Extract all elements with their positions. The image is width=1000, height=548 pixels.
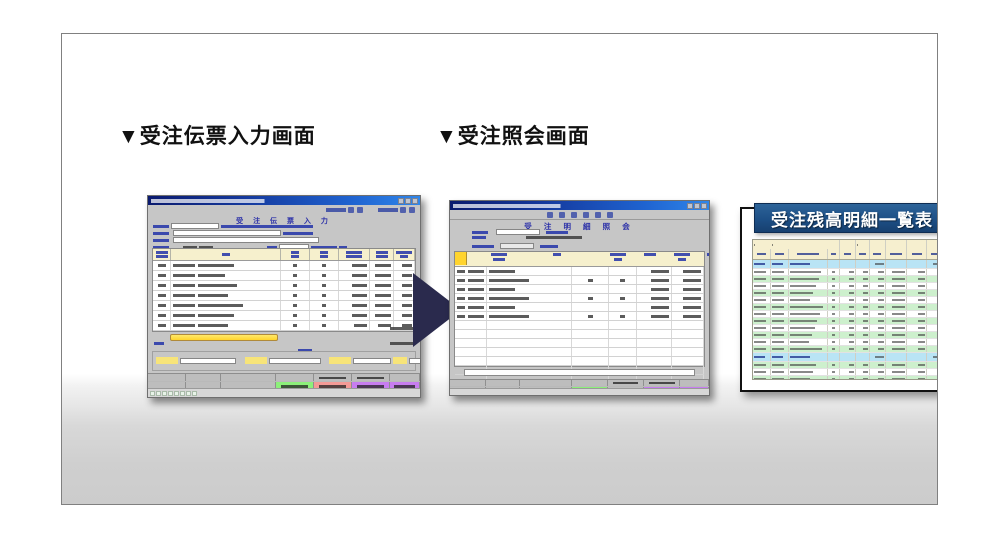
- report-cell: [840, 318, 856, 324]
- table-cell: [637, 357, 672, 365]
- report-cell: [828, 318, 840, 324]
- report-cell: [927, 362, 938, 368]
- report-cell: [771, 362, 789, 368]
- grid-col-header-6: [394, 249, 415, 260]
- close-icon[interactable]: [412, 198, 418, 204]
- report-cell: [907, 325, 927, 331]
- table-cell: [455, 330, 487, 338]
- report-cell: [927, 346, 938, 352]
- table-cell: [171, 321, 281, 330]
- report-cell: [870, 269, 886, 275]
- memo-label-2: [245, 357, 267, 364]
- table-cell: [153, 291, 171, 300]
- field-hint-2: [283, 232, 313, 235]
- report-cell: [856, 376, 870, 380]
- report-col-group-0: [753, 240, 771, 249]
- table-cell: [637, 321, 672, 329]
- header-field-1[interactable]: [153, 223, 313, 229]
- table-cell: [394, 271, 415, 280]
- heading-order-inquiry: ▼受注照会画面: [436, 120, 590, 150]
- report-cell: [870, 304, 886, 310]
- report-cell: [828, 269, 840, 275]
- report-cell: [927, 339, 938, 345]
- table-cell: [487, 276, 572, 284]
- report-cell: [789, 332, 829, 338]
- table-cell: [281, 261, 310, 270]
- memo-field-2[interactable]: [245, 357, 321, 364]
- table-row[interactable]: [455, 276, 704, 285]
- window2-controls[interactable]: [687, 203, 707, 209]
- table-cell: [171, 281, 281, 290]
- report-cell: [753, 297, 771, 303]
- report-cell: [789, 269, 829, 275]
- table-row-empty[interactable]: [455, 348, 704, 357]
- memo-field-1[interactable]: [156, 357, 236, 364]
- field-input-1[interactable]: [171, 223, 219, 229]
- table-cell: [281, 291, 310, 300]
- report-cell: [870, 362, 886, 368]
- report-col-header-1: [771, 249, 789, 259]
- report-cell: [828, 276, 840, 282]
- report-data-row: [753, 304, 938, 311]
- report-cell: [771, 339, 789, 345]
- table-cell: [487, 357, 572, 365]
- table-cell: [609, 348, 636, 356]
- table-row[interactable]: [153, 261, 415, 271]
- table-cell: [394, 301, 415, 310]
- header-field-2[interactable]: [153, 230, 313, 236]
- field-label-3: [153, 239, 169, 242]
- order-backlog-report[interactable]: 受注残高明細一覧表: [740, 207, 938, 392]
- report-cell: [870, 276, 886, 282]
- report-data-row: [753, 376, 938, 380]
- report-cell: [907, 362, 927, 368]
- report-cell: [856, 332, 870, 338]
- maximize-icon[interactable]: [694, 203, 700, 209]
- report-cell: [789, 369, 829, 375]
- report-cell: [907, 353, 927, 361]
- table-cell: [339, 301, 370, 310]
- report-cell: [771, 332, 789, 338]
- report-data-row: [753, 269, 938, 276]
- table-cell: [394, 261, 415, 270]
- table-cell: [281, 271, 310, 280]
- report-cell: [870, 260, 886, 268]
- process-icon-b[interactable]: [357, 207, 363, 213]
- grid-col-header-4: [339, 249, 370, 260]
- memo-field-panel[interactable]: [152, 351, 416, 371]
- table-row-empty[interactable]: [455, 330, 704, 339]
- table-cell: [487, 339, 572, 347]
- report-header: [753, 240, 938, 260]
- report-banner-title: 受注残高明細一覧表: [771, 206, 933, 231]
- field-input-3[interactable]: [173, 237, 319, 243]
- window2-toolbar[interactable]: [450, 210, 709, 220]
- report-cell: [927, 353, 938, 361]
- memo-field-3[interactable]: [329, 357, 391, 364]
- toolbar-icon-4[interactable]: [583, 212, 589, 218]
- report-cell: [927, 332, 938, 338]
- toolbar-icon-5[interactable]: [595, 212, 601, 218]
- grid-header-row: [153, 249, 415, 261]
- table-cell: [637, 348, 672, 356]
- memo-input-3[interactable]: [353, 358, 391, 364]
- maximize-icon[interactable]: [405, 198, 411, 204]
- report-group-row: [753, 260, 938, 269]
- report-cell: [870, 339, 886, 345]
- window1-controls[interactable]: [398, 198, 418, 204]
- report-cell: [840, 346, 856, 352]
- table-cell: [487, 303, 572, 311]
- report-cell: [753, 369, 771, 375]
- table-cell: [572, 357, 609, 365]
- report-cell: [886, 339, 908, 345]
- report-col-group-4: [840, 240, 856, 249]
- window2-titlebar[interactable]: [450, 201, 709, 210]
- report-body[interactable]: [753, 260, 938, 380]
- minimize-icon[interactable]: [687, 203, 693, 209]
- w2-label-3: [472, 245, 494, 248]
- report-cell: [828, 297, 840, 303]
- table-cell: [310, 271, 339, 280]
- report-cell: [771, 290, 789, 296]
- table-cell: [487, 285, 572, 293]
- table-cell: [637, 267, 672, 275]
- report-cell: [828, 369, 840, 375]
- report-cell: [771, 325, 789, 331]
- report-cell: [886, 353, 908, 361]
- report-cell: [907, 369, 927, 375]
- report-cell: [753, 318, 771, 324]
- report-cell: [771, 318, 789, 324]
- grid-col-header-3: [310, 249, 339, 260]
- toolbar-label-process: [326, 208, 346, 212]
- toolbar-icon-6[interactable]: [607, 212, 613, 218]
- process-icon-a[interactable]: [348, 207, 354, 213]
- w2-input-3[interactable]: [500, 243, 534, 249]
- status-cell-7: [186, 391, 191, 396]
- report-cell: [886, 332, 908, 338]
- report-data-row: [753, 276, 938, 283]
- table-cell: [487, 267, 572, 275]
- print-icon-a[interactable]: [400, 207, 406, 213]
- w2-function-key-captions: [450, 380, 709, 386]
- report-cell: [828, 304, 840, 310]
- report-cell: [886, 304, 908, 310]
- memo-input-4[interactable]: [409, 358, 421, 364]
- report-cell: [870, 297, 886, 303]
- window1-titlebar[interactable]: [148, 196, 420, 205]
- table-cell: [572, 330, 609, 338]
- report-cell: [870, 369, 886, 375]
- table-cell: [370, 281, 394, 290]
- report-cell: [907, 339, 927, 345]
- table-cell: [394, 291, 415, 300]
- table-cell: [487, 348, 572, 356]
- report-data-row: [753, 339, 938, 346]
- table-cell: [572, 303, 609, 311]
- active-input-bar[interactable]: [170, 334, 278, 341]
- report-cell: [753, 376, 771, 380]
- table-row[interactable]: [153, 321, 415, 331]
- table-cell: [637, 294, 672, 302]
- report-cell: [907, 332, 927, 338]
- report-cell: [771, 269, 789, 275]
- print-icon-b[interactable]: [409, 207, 415, 213]
- report-cell: [856, 325, 870, 331]
- table-cell: [609, 339, 636, 347]
- report-cell: [840, 260, 856, 268]
- report-col-group-2: [789, 240, 829, 249]
- report-data-row: [753, 369, 938, 376]
- toolbar-group-print[interactable]: [378, 207, 416, 213]
- report-cell: [840, 362, 856, 368]
- report-cell: [789, 325, 829, 331]
- report-cell: [886, 297, 908, 303]
- w2-col-header-0: [482, 253, 514, 261]
- report-cell: [828, 332, 840, 338]
- w2-field-3[interactable]: [472, 243, 558, 249]
- report-cell: [907, 318, 927, 324]
- toolbar-group-process[interactable]: [326, 207, 364, 213]
- table-row[interactable]: [455, 294, 704, 303]
- memo-field-4[interactable]: [393, 357, 421, 364]
- table-cell: [572, 348, 609, 356]
- inquiry-detail-grid[interactable]: [454, 251, 705, 367]
- status-cell-8: [192, 391, 197, 396]
- status-cell-4: [168, 391, 173, 396]
- table-row[interactable]: [153, 291, 415, 301]
- table-cell: [370, 311, 394, 320]
- table-cell: [370, 271, 394, 280]
- close-icon[interactable]: [701, 203, 707, 209]
- report-cell: [840, 276, 856, 282]
- report-col-header-8: [907, 249, 927, 259]
- report-cell: [771, 304, 789, 310]
- report-cell: [856, 339, 870, 345]
- report-cell: [789, 318, 829, 324]
- report-cell: [907, 311, 927, 317]
- report-cell: [927, 290, 938, 296]
- table-cell: [310, 291, 339, 300]
- report-cell: [856, 276, 870, 282]
- w2-col-header-3: [637, 253, 664, 256]
- report-cell: [789, 276, 829, 282]
- report-cell: [789, 376, 829, 380]
- report-cell: [886, 318, 908, 324]
- table-cell: [637, 330, 672, 338]
- report-cell: [753, 346, 771, 352]
- table-cell: [487, 321, 572, 329]
- table-cell: [572, 294, 609, 302]
- table-row-empty[interactable]: [455, 357, 704, 366]
- order-detail-grid[interactable]: [152, 248, 416, 332]
- table-cell: [609, 276, 636, 284]
- table-cell: [672, 357, 704, 365]
- report-cell: [753, 332, 771, 338]
- report-cell: [753, 311, 771, 317]
- w2-grid-body[interactable]: [455, 267, 704, 396]
- table-cell: [455, 312, 487, 320]
- w2-col-header-1: [515, 253, 600, 256]
- report-cell: [856, 318, 870, 324]
- report-col-group-1: [771, 240, 789, 249]
- table-cell: [672, 312, 704, 320]
- window1-header-form[interactable]: [148, 222, 420, 247]
- report-cell: [840, 376, 856, 380]
- table-cell: [609, 267, 636, 275]
- report-col-group-7: [886, 240, 908, 249]
- table-row[interactable]: [153, 311, 415, 321]
- table-cell: [455, 285, 487, 293]
- report-cell: [771, 346, 789, 352]
- window2-header-form[interactable]: [450, 228, 709, 250]
- header-field-3[interactable]: [153, 237, 319, 243]
- grid-body[interactable]: [153, 261, 415, 331]
- report-cell: [828, 290, 840, 296]
- report-cell: [856, 353, 870, 361]
- report-cell: [870, 376, 886, 380]
- table-cell: [339, 321, 370, 330]
- field-hint-1: [221, 225, 313, 228]
- table-cell: [310, 321, 339, 330]
- table-cell: [370, 291, 394, 300]
- grid-col-header-5: [370, 249, 394, 260]
- table-cell: [171, 291, 281, 300]
- table-row[interactable]: [455, 267, 704, 276]
- table-cell: [153, 321, 171, 330]
- table-cell: [153, 261, 171, 270]
- report-cell: [927, 283, 938, 289]
- toolbar-icon-1[interactable]: [547, 212, 553, 218]
- memo-input-1[interactable]: [180, 358, 236, 364]
- report-cell: [886, 311, 908, 317]
- report-cell: [907, 269, 927, 275]
- w2-label-2: [472, 236, 486, 239]
- report-cell: [886, 376, 908, 380]
- report-cell: [870, 332, 886, 338]
- field-label-2: [153, 232, 169, 235]
- table-row[interactable]: [153, 301, 415, 311]
- report-col-group-6: [870, 240, 886, 249]
- report-data-row: [753, 297, 938, 304]
- window2-statusbar: [450, 388, 709, 395]
- report-data-row: [753, 346, 938, 353]
- slide-canvas: ▼受注伝票入力画面 ▼受注照会画面 受 注 伝 票 入 力: [61, 33, 938, 505]
- w2-input-1[interactable]: [496, 229, 540, 235]
- field-label-1: [153, 225, 169, 228]
- report-table[interactable]: [752, 239, 938, 380]
- minimize-icon[interactable]: [398, 198, 404, 204]
- report-data-row: [753, 311, 938, 318]
- table-cell: [153, 301, 171, 310]
- table-cell: [153, 271, 171, 280]
- table-cell: [487, 312, 572, 320]
- report-cell: [753, 269, 771, 275]
- table-cell: [572, 267, 609, 275]
- w2-field-1[interactable]: [472, 229, 568, 235]
- table-cell: [572, 339, 609, 347]
- report-data-row: [753, 318, 938, 325]
- table-cell: [310, 261, 339, 270]
- order-inquiry-window[interactable]: 受 注 明 細 照 会: [449, 200, 710, 396]
- table-row-empty[interactable]: [455, 339, 704, 348]
- table-row-empty[interactable]: [455, 321, 704, 330]
- grid-col-header-0: [153, 249, 171, 260]
- table-cell: [487, 294, 572, 302]
- table-row[interactable]: [153, 281, 415, 291]
- report-cell: [753, 304, 771, 310]
- window1-toolbar[interactable]: [320, 207, 416, 213]
- report-cell: [907, 304, 927, 310]
- report-data-row: [753, 290, 938, 297]
- table-cell: [394, 311, 415, 320]
- report-cell: [840, 325, 856, 331]
- toolbar-label-print: [378, 208, 398, 212]
- w2-field-2[interactable]: [472, 236, 582, 239]
- report-cell: [856, 311, 870, 317]
- table-cell: [637, 312, 672, 320]
- report-cell: [840, 283, 856, 289]
- tax-amount: [390, 342, 414, 345]
- grid-col-header-1: [171, 249, 281, 260]
- report-col-group-9: [927, 240, 938, 249]
- toolbar-icon-3[interactable]: [571, 212, 577, 218]
- table-cell: [455, 321, 487, 329]
- report-cell: [771, 369, 789, 375]
- table-cell: [637, 285, 672, 293]
- table-cell: [609, 285, 636, 293]
- report-cell: [789, 290, 829, 296]
- report-col-group-8: [907, 240, 927, 249]
- report-cell: [753, 260, 771, 268]
- table-cell: [672, 348, 704, 356]
- report-col-group-3: [828, 240, 840, 249]
- memo-label-4: [393, 357, 407, 364]
- window2-title-caption: [453, 204, 687, 208]
- status-cell-2: [156, 391, 161, 396]
- toolbar-icon-2[interactable]: [559, 212, 565, 218]
- w2-label-1: [472, 231, 488, 234]
- inquiry-input-bar[interactable]: [464, 369, 695, 376]
- row-marker-icon: [455, 252, 467, 265]
- table-row[interactable]: [455, 312, 704, 321]
- report-cell: [771, 297, 789, 303]
- memo-input-2[interactable]: [269, 358, 321, 364]
- heading-order-entry: ▼受注伝票入力画面: [118, 120, 316, 150]
- report-cell: [828, 339, 840, 345]
- w2-grid-header: [455, 252, 704, 267]
- report-cell: [886, 325, 908, 331]
- report-cell: [870, 318, 886, 324]
- table-cell: [609, 357, 636, 365]
- table-cell: [455, 303, 487, 311]
- field-input-2[interactable]: [173, 230, 281, 236]
- table-row[interactable]: [455, 303, 704, 312]
- table-cell: [339, 291, 370, 300]
- table-cell: [672, 303, 704, 311]
- report-cell: [753, 362, 771, 368]
- report-cell: [907, 276, 927, 282]
- table-cell: [339, 311, 370, 320]
- report-cell: [907, 260, 927, 268]
- table-cell: [339, 271, 370, 280]
- table-row[interactable]: [153, 271, 415, 281]
- table-cell: [455, 357, 487, 365]
- order-slip-entry-window[interactable]: 受 注 伝 票 入 力: [147, 195, 421, 398]
- report-cell: [907, 297, 927, 303]
- table-row[interactable]: [455, 285, 704, 294]
